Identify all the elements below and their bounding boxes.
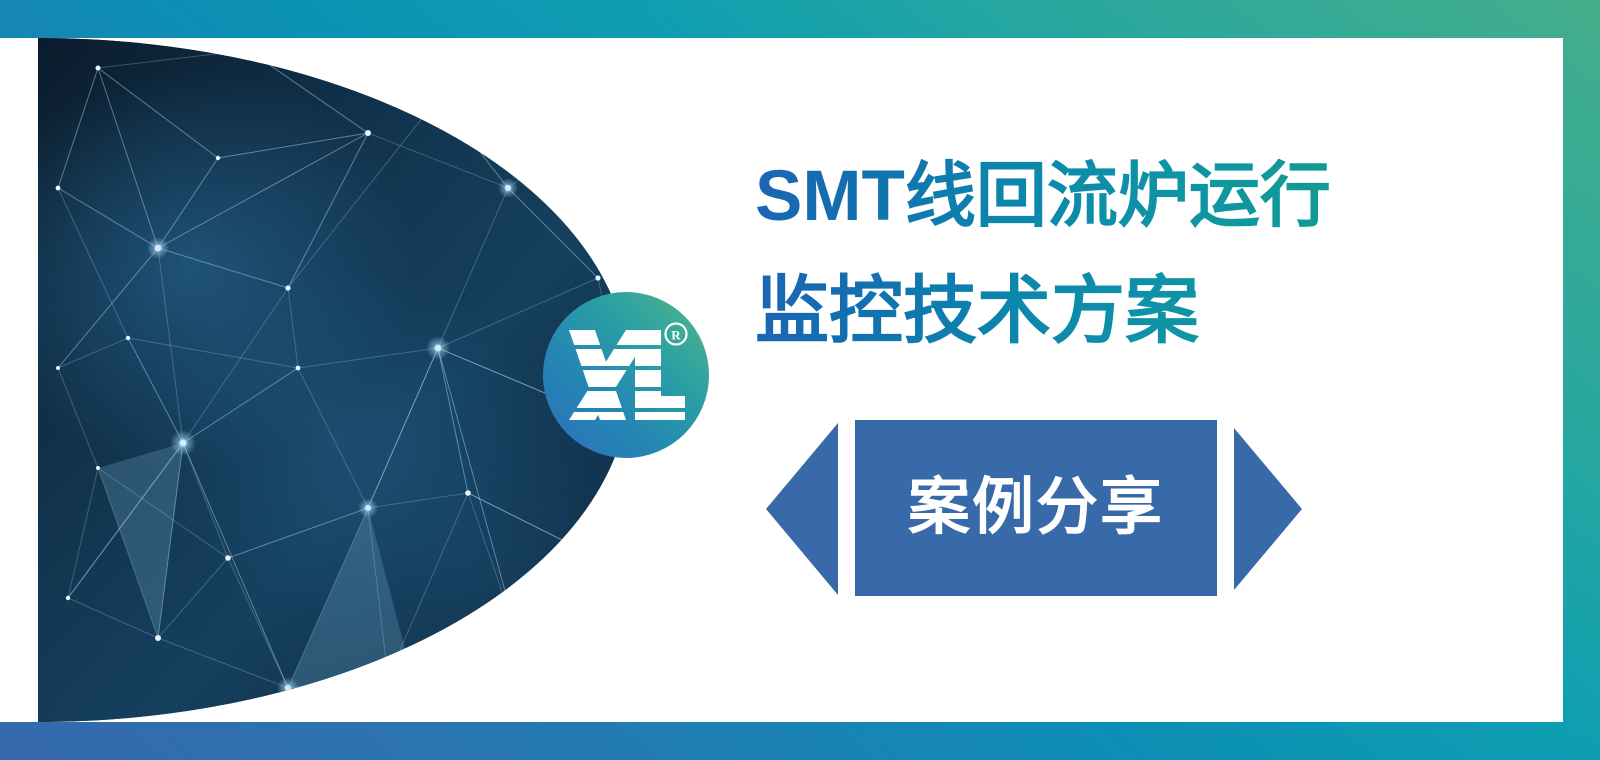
arrow-left-icon (766, 423, 838, 595)
badge-bar: 案例分享 (855, 420, 1217, 596)
case-sharing-badge: 案例分享 (766, 420, 1302, 596)
badge-label: 案例分享 (908, 477, 1164, 539)
page-title: SMT线回流炉运行 监控技术方案 (755, 140, 1455, 368)
title-line-2: 监控技术方案 (755, 254, 1455, 368)
arrow-right-icon (1234, 428, 1302, 590)
network-mesh-photo (38, 38, 630, 722)
title-line-1: SMT线回流炉运行 (755, 140, 1455, 254)
media-panel (38, 38, 630, 722)
xl-logo: R (543, 292, 709, 458)
svg-text:R: R (671, 328, 681, 343)
slide-root: R SMT线回流炉运行 监控技术方案 案例分享 (0, 0, 1600, 760)
